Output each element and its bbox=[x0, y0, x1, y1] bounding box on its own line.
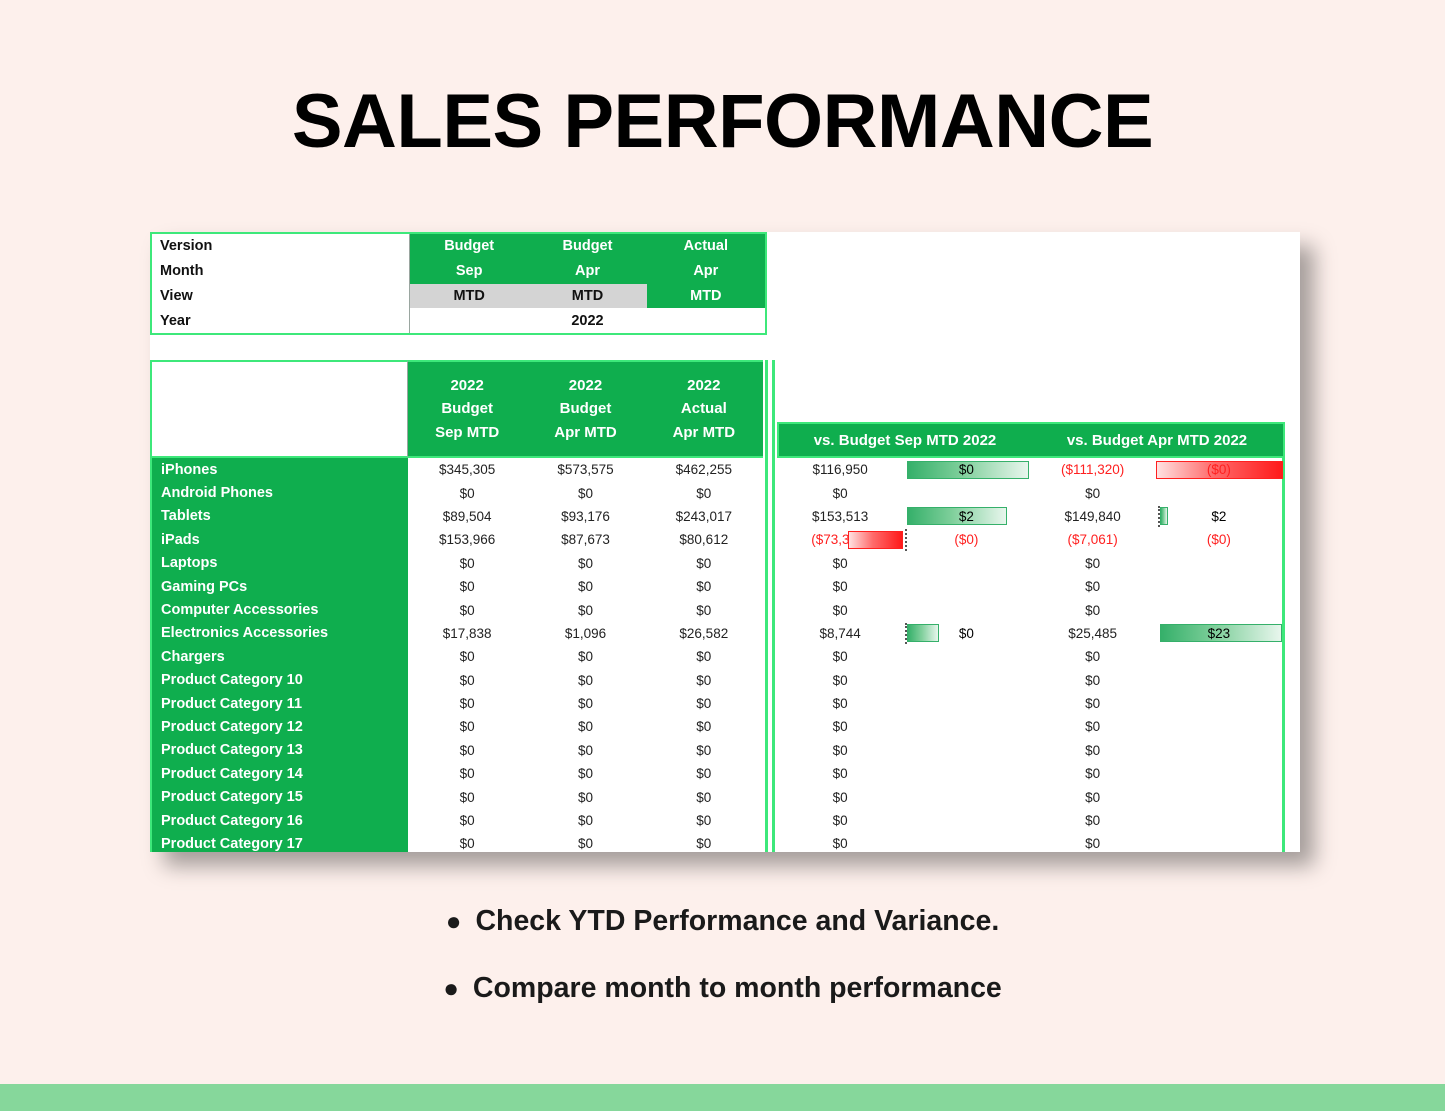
cell-budget-apr: $0 bbox=[526, 598, 644, 621]
cell-budget-sep: $0 bbox=[408, 785, 526, 808]
cell-variance-sep-bar bbox=[903, 832, 1029, 852]
cell-actual-apr: $0 bbox=[645, 739, 763, 762]
selector-row-year: 2022 bbox=[410, 308, 765, 333]
month-value-2[interactable]: Apr bbox=[528, 259, 646, 284]
table-row: Laptops$0$0$0$0$0 bbox=[150, 552, 1300, 575]
bullet-item: ●Compare month to month performance bbox=[0, 972, 1445, 1005]
cell-budget-sep: $0 bbox=[408, 645, 526, 668]
cell-variance-apr: ($7,061) bbox=[1030, 528, 1156, 551]
cell-variance-sep: $8,744 bbox=[777, 622, 903, 645]
cell-variance-apr-bar bbox=[1156, 669, 1282, 692]
cell-variance-apr: $149,840 bbox=[1030, 505, 1156, 528]
cell-budget-apr: $0 bbox=[526, 575, 644, 598]
cell-budget-apr: $0 bbox=[526, 692, 644, 715]
column-divider bbox=[763, 575, 777, 598]
data-bar-label: ($0) bbox=[903, 532, 1029, 547]
row-values: $0$0$0 bbox=[408, 645, 763, 668]
cell-actual-apr: $243,017 bbox=[645, 505, 763, 528]
row-variances: $0$0 bbox=[777, 575, 1285, 598]
cell-variance-apr: $0 bbox=[1030, 575, 1156, 598]
row-category-label: Product Category 15 bbox=[150, 785, 408, 808]
header-year: 2022 bbox=[569, 374, 602, 397]
cell-variance-apr: $0 bbox=[1030, 552, 1156, 575]
header-value-columns: 2022 Budget Sep MTD 2022 Budget Apr MTD … bbox=[408, 360, 763, 458]
data-bar-negative bbox=[848, 531, 903, 549]
cell-variance-apr: $0 bbox=[1030, 809, 1156, 832]
table-row: Tablets$89,504$93,176$243,017$153,513$2$… bbox=[150, 505, 1300, 528]
cell-budget-apr: $0 bbox=[526, 552, 644, 575]
cell-budget-sep: $89,504 bbox=[408, 505, 526, 528]
row-variances: $0$0 bbox=[777, 669, 1285, 692]
column-divider bbox=[763, 552, 777, 575]
year-value[interactable]: 2022 bbox=[410, 308, 765, 333]
cell-budget-sep: $0 bbox=[408, 739, 526, 762]
row-values: $17,838$1,096$26,582 bbox=[408, 622, 763, 645]
cell-budget-apr: $0 bbox=[526, 762, 644, 785]
data-bar-label: $0 bbox=[903, 462, 1029, 477]
cell-budget-sep: $0 bbox=[408, 481, 526, 504]
cell-variance-sep: $0 bbox=[777, 739, 903, 762]
header-variance-sep: vs. Budget Sep MTD 2022 bbox=[779, 424, 1031, 456]
table-row: Product Category 10$0$0$0$0$0 bbox=[150, 669, 1300, 692]
view-dropdown-2[interactable]: MTD bbox=[528, 284, 646, 309]
month-value-3[interactable]: Apr bbox=[647, 259, 765, 284]
feature-bullets: ●Check YTD Performance and Variance. ●Co… bbox=[0, 905, 1445, 1039]
selector-label-year: Year bbox=[152, 308, 409, 333]
selector-panel: Version Month View Year Budget Budget Ac… bbox=[150, 232, 767, 335]
row-variances: $153,513$2$149,840$2 bbox=[777, 505, 1285, 528]
table-row: Product Category 16$0$0$0$0$0 bbox=[150, 809, 1300, 832]
column-divider bbox=[763, 458, 777, 481]
cell-variance-sep: $0 bbox=[777, 715, 903, 738]
cell-variance-sep: $0 bbox=[777, 575, 903, 598]
selector-row-version: Budget Budget Actual bbox=[410, 234, 765, 259]
row-variances: $0$0 bbox=[777, 481, 1285, 504]
row-variances: $0$0 bbox=[777, 598, 1285, 621]
header-year: 2022 bbox=[687, 374, 720, 397]
cell-actual-apr: $0 bbox=[645, 669, 763, 692]
footer-bar bbox=[0, 1084, 1445, 1111]
row-values: $89,504$93,176$243,017 bbox=[408, 505, 763, 528]
table-row: Product Category 12$0$0$0$0$0 bbox=[150, 715, 1300, 738]
table-row: Product Category 14$0$0$0$0$0 bbox=[150, 762, 1300, 785]
card-top-right-blank bbox=[781, 232, 1300, 360]
row-category-label: iPhones bbox=[150, 458, 408, 481]
row-variances: $0$0 bbox=[777, 809, 1285, 832]
cell-variance-apr: $0 bbox=[1030, 832, 1156, 852]
data-bar-label: ($0) bbox=[1156, 462, 1282, 477]
cell-variance-apr: $0 bbox=[1030, 715, 1156, 738]
cell-variance-apr: $0 bbox=[1030, 669, 1156, 692]
row-category-label: Computer Accessories bbox=[150, 598, 408, 621]
row-variances: $0$0 bbox=[777, 645, 1285, 668]
cell-variance-apr: $0 bbox=[1030, 645, 1156, 668]
table-header: 2022 Budget Sep MTD 2022 Budget Apr MTD … bbox=[150, 360, 1300, 458]
cell-budget-apr: $93,176 bbox=[526, 505, 644, 528]
cell-variance-sep-bar bbox=[903, 785, 1029, 808]
cell-variance-sep: $0 bbox=[777, 809, 903, 832]
row-category-label: Product Category 14 bbox=[150, 762, 408, 785]
cell-actual-apr: $0 bbox=[645, 762, 763, 785]
selector-labels: Version Month View Year bbox=[152, 234, 410, 333]
row-category-label: Product Category 13 bbox=[150, 739, 408, 762]
cell-variance-sep: $0 bbox=[777, 785, 903, 808]
cell-budget-sep: $345,305 bbox=[408, 458, 526, 481]
header-year: 2022 bbox=[450, 374, 483, 397]
row-values: $345,305$573,575$462,255 bbox=[408, 458, 763, 481]
bullet-text: Compare month to month performance bbox=[473, 972, 1002, 1004]
cell-actual-apr: $26,582 bbox=[645, 622, 763, 645]
row-values: $0$0$0 bbox=[408, 552, 763, 575]
cell-variance-apr: ($111,320) bbox=[1030, 458, 1156, 481]
cell-variance-sep-bar bbox=[903, 645, 1029, 668]
table-row: Product Category 11$0$0$0$0$0 bbox=[150, 692, 1300, 715]
cell-variance-sep-bar: ($0) bbox=[903, 528, 1029, 551]
column-divider bbox=[763, 762, 777, 785]
header-col-budget-apr: 2022 Budget Apr MTD bbox=[526, 362, 644, 456]
cell-budget-sep: $0 bbox=[408, 715, 526, 738]
cell-budget-apr: $573,575 bbox=[526, 458, 644, 481]
row-category-label: Product Category 10 bbox=[150, 669, 408, 692]
column-divider bbox=[763, 809, 777, 832]
row-variances: $116,950$0($111,320)($0) bbox=[777, 458, 1285, 481]
cell-variance-sep: $153,513 bbox=[777, 505, 903, 528]
cell-variance-sep-bar: $2 bbox=[903, 505, 1029, 528]
cell-variance-sep: $116,950 bbox=[777, 458, 903, 481]
cell-variance-apr: $25,485 bbox=[1030, 622, 1156, 645]
row-category-label: Android Phones bbox=[150, 481, 408, 504]
header-version: Budget bbox=[441, 397, 493, 420]
row-variances: $0$0 bbox=[777, 715, 1285, 738]
cell-variance-sep: $0 bbox=[777, 598, 903, 621]
table-row: Electronics Accessories$17,838$1,096$26,… bbox=[150, 622, 1300, 645]
cell-actual-apr: $0 bbox=[645, 552, 763, 575]
row-values: $0$0$0 bbox=[408, 809, 763, 832]
bullet-item: ●Check YTD Performance and Variance. bbox=[0, 905, 1445, 938]
cell-variance-apr: $0 bbox=[1030, 739, 1156, 762]
bullet-dot-icon: ● bbox=[443, 973, 459, 1003]
row-values: $0$0$0 bbox=[408, 598, 763, 621]
column-divider bbox=[763, 481, 777, 504]
header-version: Actual bbox=[681, 397, 727, 420]
cell-actual-apr: $462,255 bbox=[645, 458, 763, 481]
cell-variance-apr: $0 bbox=[1030, 481, 1156, 504]
table-row: Android Phones$0$0$0$0$0 bbox=[150, 481, 1300, 504]
data-bar-label: $0 bbox=[903, 626, 1029, 641]
table-row: Chargers$0$0$0$0$0 bbox=[150, 645, 1300, 668]
cell-budget-sep: $153,966 bbox=[408, 528, 526, 551]
cell-budget-sep: $0 bbox=[408, 809, 526, 832]
cell-budget-apr: $1,096 bbox=[526, 622, 644, 645]
cell-variance-sep: $0 bbox=[777, 669, 903, 692]
performance-table: 2022 Budget Sep MTD 2022 Budget Apr MTD … bbox=[150, 360, 1300, 852]
row-category-label: Electronics Accessories bbox=[150, 622, 408, 645]
cell-budget-sep: $0 bbox=[408, 832, 526, 852]
column-divider bbox=[763, 785, 777, 808]
cell-variance-apr-bar bbox=[1156, 645, 1282, 668]
row-values: $0$0$0 bbox=[408, 832, 763, 852]
row-variances: $0$0 bbox=[777, 692, 1285, 715]
cell-variance-sep: $0 bbox=[777, 762, 903, 785]
row-values: $0$0$0 bbox=[408, 785, 763, 808]
page-title: SALES PERFORMANCE bbox=[0, 78, 1445, 165]
cell-variance-apr-bar bbox=[1156, 762, 1282, 785]
cell-variance-apr-bar: $23 bbox=[1156, 622, 1282, 645]
cell-variance-apr: $0 bbox=[1030, 785, 1156, 808]
selector-row-view: MTD MTD MTD bbox=[410, 284, 765, 309]
cell-variance-sep-bar bbox=[903, 575, 1029, 598]
cell-variance-sep: $0 bbox=[777, 481, 903, 504]
cell-variance-apr-bar bbox=[1156, 739, 1282, 762]
row-values: $0$0$0 bbox=[408, 481, 763, 504]
row-category-label: Product Category 11 bbox=[150, 692, 408, 715]
cell-variance-apr-bar: ($0) bbox=[1156, 528, 1282, 551]
header-period: Sep MTD bbox=[435, 421, 499, 444]
header-period: Apr MTD bbox=[554, 421, 617, 444]
column-divider bbox=[763, 739, 777, 762]
selector-label-view: View bbox=[152, 284, 409, 309]
cell-actual-apr: $0 bbox=[645, 809, 763, 832]
cell-actual-apr: $0 bbox=[645, 785, 763, 808]
cell-actual-apr: $0 bbox=[645, 715, 763, 738]
cell-variance-apr-bar: ($0) bbox=[1156, 458, 1282, 481]
bullet-text: Check YTD Performance and Variance. bbox=[475, 905, 999, 937]
row-values: $153,966$87,673$80,612 bbox=[408, 528, 763, 551]
row-values: $0$0$0 bbox=[408, 575, 763, 598]
data-bar-label: $2 bbox=[903, 509, 1029, 524]
version-value-3[interactable]: Actual bbox=[647, 234, 765, 259]
cell-variance-apr-bar bbox=[1156, 575, 1282, 598]
header-category-blank bbox=[150, 360, 408, 458]
row-values: $0$0$0 bbox=[408, 715, 763, 738]
header-variance-columns: vs. Budget Sep MTD 2022 vs. Budget Apr M… bbox=[777, 360, 1285, 458]
row-variances: $0$0 bbox=[777, 739, 1285, 762]
row-variances: ($73,354)($0)($7,061)($0) bbox=[777, 528, 1285, 551]
cell-variance-sep-bar bbox=[903, 552, 1029, 575]
row-category-label: Tablets bbox=[150, 505, 408, 528]
header-col-actual-apr: 2022 Actual Apr MTD bbox=[645, 362, 763, 456]
column-divider bbox=[763, 622, 777, 645]
column-divider bbox=[763, 692, 777, 715]
row-values: $0$0$0 bbox=[408, 762, 763, 785]
version-value-1[interactable]: Budget bbox=[410, 234, 528, 259]
cell-budget-apr: $0 bbox=[526, 669, 644, 692]
cell-variance-sep: $0 bbox=[777, 832, 903, 852]
cell-variance-sep-bar bbox=[903, 692, 1029, 715]
column-divider bbox=[763, 598, 777, 621]
cell-variance-apr-bar bbox=[1156, 481, 1282, 504]
cell-variance-sep-bar bbox=[903, 669, 1029, 692]
selector-row-month: Sep Apr Apr bbox=[410, 259, 765, 284]
row-values: $0$0$0 bbox=[408, 669, 763, 692]
cell-budget-sep: $0 bbox=[408, 692, 526, 715]
cell-variance-sep-bar: $0 bbox=[903, 458, 1029, 481]
version-value-2[interactable]: Budget bbox=[528, 234, 646, 259]
cell-variance-sep-bar bbox=[903, 715, 1029, 738]
row-category-label: Product Category 12 bbox=[150, 715, 408, 738]
row-category-label: Product Category 16 bbox=[150, 809, 408, 832]
cell-budget-apr: $87,673 bbox=[526, 528, 644, 551]
table-row: iPhones$345,305$573,575$462,255$116,950$… bbox=[150, 458, 1300, 481]
cell-budget-apr: $0 bbox=[526, 785, 644, 808]
column-divider bbox=[763, 505, 777, 528]
row-values: $0$0$0 bbox=[408, 739, 763, 762]
row-category-label: Gaming PCs bbox=[150, 575, 408, 598]
cell-variance-apr: $0 bbox=[1030, 598, 1156, 621]
cell-variance-apr-bar bbox=[1156, 552, 1282, 575]
cell-budget-apr: $0 bbox=[526, 809, 644, 832]
table-row: Computer Accessories$0$0$0$0$0 bbox=[150, 598, 1300, 621]
row-values: $0$0$0 bbox=[408, 692, 763, 715]
table-body: iPhones$345,305$573,575$462,255$116,950$… bbox=[150, 458, 1300, 852]
cell-variance-sep-bar bbox=[903, 762, 1029, 785]
cell-actual-apr: $0 bbox=[645, 575, 763, 598]
header-version: Budget bbox=[560, 397, 612, 420]
row-variances: $0$0 bbox=[777, 762, 1285, 785]
cell-variance-apr-bar bbox=[1156, 692, 1282, 715]
table-row: Gaming PCs$0$0$0$0$0 bbox=[150, 575, 1300, 598]
cell-actual-apr: $0 bbox=[645, 598, 763, 621]
cell-variance-sep-bar bbox=[903, 481, 1029, 504]
cell-budget-apr: $0 bbox=[526, 832, 644, 852]
data-bar-label: $2 bbox=[1156, 509, 1282, 524]
column-divider bbox=[763, 832, 777, 852]
row-variances: $8,744$0$25,485$23 bbox=[777, 622, 1285, 645]
cell-variance-sep: $0 bbox=[777, 692, 903, 715]
row-variances: $0$0 bbox=[777, 552, 1285, 575]
cell-budget-sep: $0 bbox=[408, 598, 526, 621]
header-col-budget-sep: 2022 Budget Sep MTD bbox=[408, 362, 526, 456]
view-dropdown-1[interactable]: MTD bbox=[410, 284, 528, 309]
cell-variance-apr-bar bbox=[1156, 809, 1282, 832]
cell-variance-sep-bar bbox=[903, 739, 1029, 762]
data-bar-label: $23 bbox=[1156, 626, 1282, 641]
column-divider bbox=[763, 715, 777, 738]
cell-budget-apr: $0 bbox=[526, 481, 644, 504]
table-row: Product Category 13$0$0$0$0$0 bbox=[150, 739, 1300, 762]
cell-actual-apr: $0 bbox=[645, 481, 763, 504]
column-divider bbox=[763, 528, 777, 551]
cell-variance-apr-bar bbox=[1156, 785, 1282, 808]
cell-variance-apr-bar: $2 bbox=[1156, 505, 1282, 528]
month-value-1[interactable]: Sep bbox=[410, 259, 528, 284]
row-variances: $0$0 bbox=[777, 832, 1285, 852]
column-divider bbox=[763, 669, 777, 692]
cell-budget-sep: $17,838 bbox=[408, 622, 526, 645]
cell-budget-apr: $0 bbox=[526, 715, 644, 738]
row-category-label: iPads bbox=[150, 528, 408, 551]
cell-budget-sep: $0 bbox=[408, 552, 526, 575]
table-row: Product Category 17$0$0$0$0$0 bbox=[150, 832, 1300, 852]
selector-label-version: Version bbox=[152, 234, 409, 259]
selector-label-month: Month bbox=[152, 259, 409, 284]
table-row: iPads$153,966$87,673$80,612($73,354)($0)… bbox=[150, 528, 1300, 551]
column-divider bbox=[763, 645, 777, 668]
header-period: Apr MTD bbox=[673, 421, 736, 444]
cell-variance-sep-bar: $0 bbox=[903, 622, 1029, 645]
cell-variance-apr-bar bbox=[1156, 715, 1282, 738]
cell-variance-sep-bar bbox=[903, 809, 1029, 832]
cell-budget-sep: $0 bbox=[408, 575, 526, 598]
cell-actual-apr: $0 bbox=[645, 645, 763, 668]
spreadsheet-card: Version Month View Year Budget Budget Ac… bbox=[150, 232, 1300, 852]
bullet-dot-icon: ● bbox=[446, 906, 462, 936]
view-dropdown-3[interactable]: MTD bbox=[647, 284, 765, 309]
row-variances: $0$0 bbox=[777, 785, 1285, 808]
cell-variance-apr-bar bbox=[1156, 832, 1282, 852]
row-category-label: Laptops bbox=[150, 552, 408, 575]
cell-variance-sep: $0 bbox=[777, 552, 903, 575]
header-variance-apr: vs. Budget Apr MTD 2022 bbox=[1031, 424, 1283, 456]
cell-actual-apr: $0 bbox=[645, 832, 763, 852]
cell-actual-apr: $80,612 bbox=[645, 528, 763, 551]
cell-budget-sep: $0 bbox=[408, 669, 526, 692]
selector-values: Budget Budget Actual Sep Apr Apr MTD MTD… bbox=[410, 234, 765, 333]
cell-actual-apr: $0 bbox=[645, 692, 763, 715]
cell-variance-apr: $0 bbox=[1030, 692, 1156, 715]
cell-variance-sep: $0 bbox=[777, 645, 903, 668]
cell-variance-apr-bar bbox=[1156, 598, 1282, 621]
cell-budget-apr: $0 bbox=[526, 739, 644, 762]
row-category-label: Chargers bbox=[150, 645, 408, 668]
cell-variance-apr: $0 bbox=[1030, 762, 1156, 785]
data-bar-label: ($0) bbox=[1156, 532, 1282, 547]
column-divider bbox=[763, 360, 777, 458]
cell-budget-apr: $0 bbox=[526, 645, 644, 668]
row-category-label: Product Category 17 bbox=[150, 832, 408, 852]
cell-budget-sep: $0 bbox=[408, 762, 526, 785]
table-row: Product Category 15$0$0$0$0$0 bbox=[150, 785, 1300, 808]
cell-variance-sep-bar bbox=[903, 598, 1029, 621]
